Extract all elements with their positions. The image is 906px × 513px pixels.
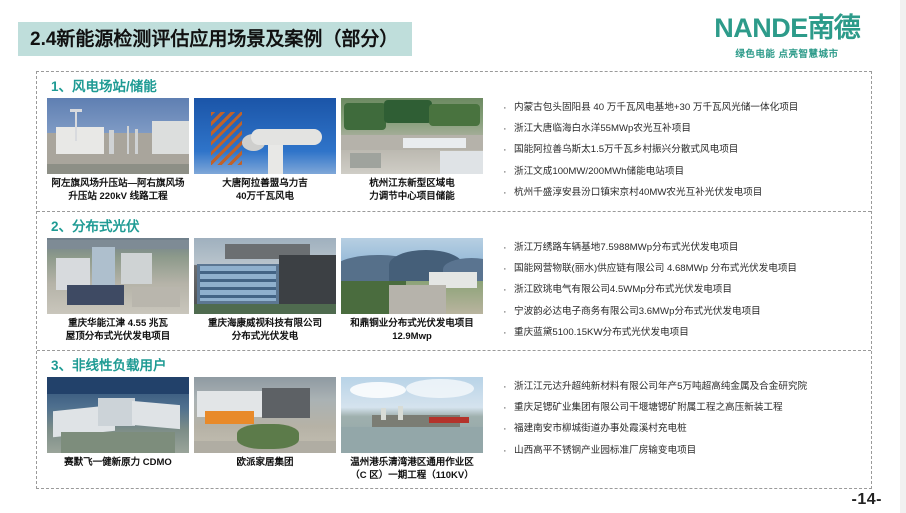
bullet-text: 国能网营物联(丽水)供应链有限公司 4.68MWp 分布式光伏发电项目 — [514, 263, 797, 275]
bullet-text: 山西高平不锈钢产业园标准厂房输变电项目 — [514, 445, 696, 457]
bullet-text: 浙江欧珧电气有限公司4.5WMp分布式光伏发电项目 — [514, 284, 732, 296]
bullet-item: ·杭州千盛淳安县汾口镇宋京村40MW农光互补光伏发电项目 — [503, 187, 865, 200]
factory-yard-photo — [194, 377, 336, 453]
slide: 2.4新能源检测评估应用场景及案例（部分） NANDE南德 绿色电能 点亮智慧城… — [0, 0, 906, 513]
section-nonlinear-load: 3、非线性负载用户 赛默飞一健新原力 CDMO 欧派家居集团 — [37, 350, 871, 489]
bullet-dot-icon: · — [503, 306, 514, 319]
brand-logo-block: NANDE南德 绿色电能 点亮智慧城市 — [692, 14, 882, 60]
bullet-text: 国能阿拉善乌斯太1.5万千瓦乡村振兴分散式风电项目 — [514, 144, 738, 156]
brand-logo-latin: NANDE — [714, 13, 808, 43]
bullet-dot-icon: · — [503, 445, 514, 458]
project-card[interactable]: 重庆海康威视科技有限公司 分布式光伏发电 — [194, 238, 336, 344]
bullet-dot-icon: · — [503, 327, 514, 340]
substation-photo — [47, 98, 189, 174]
bullet-item: ·浙江文成100MW/200MWh储能电站项目 — [503, 166, 865, 179]
bullet-item: ·重庆足锶矿业集团有限公司干堰塘锶矿附属工程之高压新装工程 — [503, 402, 865, 415]
project-card[interactable]: 阿左旗风场升压站—阿右旗风场 升压站 220kV 线路工程 — [47, 98, 189, 204]
wind-turbine-photo — [194, 98, 336, 174]
card-gallery: 阿左旗风场升压站—阿右旗风场 升压站 220kV 线路工程 大唐阿拉善盟乌力吉 … — [37, 98, 489, 204]
bullet-dot-icon: · — [503, 381, 514, 394]
card-caption: 赛默飞一健新原力 CDMO — [47, 457, 189, 470]
bullet-dot-icon: · — [503, 166, 514, 179]
mountain-road-campus-photo — [341, 238, 483, 314]
card-caption: 大唐阿拉善盟乌力吉 40万千瓦风电 — [194, 178, 336, 204]
bullet-item: ·浙江江元达升超纯新材料有限公司年产5万吨超高纯金属及合金研究院 — [503, 381, 865, 394]
bullet-item: ·福建南安市柳城街道办事处霞溪村充电桩 — [503, 423, 865, 436]
bullet-item: ·浙江欧珧电气有限公司4.5WMp分布式光伏发电项目 — [503, 284, 865, 297]
bullet-item: ·浙江大唐临海白水洋55MWp农光互补项目 — [503, 123, 865, 136]
section-body: 阿左旗风场升压站—阿右旗风场 升压站 220kV 线路工程 大唐阿拉善盟乌力吉 … — [37, 98, 871, 208]
bullet-dot-icon: · — [503, 187, 514, 200]
content-panel: 1、风电场站/储能 阿左旗风场升压站—阿右旗风场 升压站 220kV 线路工程 … — [36, 71, 872, 489]
project-card[interactable]: 大唐阿拉善盟乌力吉 40万千瓦风电 — [194, 98, 336, 204]
page-number: -14- — [852, 491, 882, 509]
bullet-dot-icon: · — [503, 123, 514, 136]
bullet-list: ·浙江江元达升超纯新材料有限公司年产5万吨超高纯金属及合金研究院 ·重庆足锶矿业… — [489, 377, 871, 466]
bullet-item: ·国能网营物联(丽水)供应链有限公司 4.68MWp 分布式光伏发电项目 — [503, 263, 865, 276]
section-body: 赛默飞一健新原力 CDMO 欧派家居集团 温州港乐清湾港区通用作业区 （C 区）… — [37, 377, 871, 483]
bullet-list: ·浙江万绣路车辆基地7.5988MWp分布式光伏发电项目 ·国能网营物联(丽水)… — [489, 238, 871, 348]
bullet-dot-icon: · — [503, 102, 514, 115]
card-caption: 杭州江东新型区域电 力调节中心项目储能 — [341, 178, 483, 204]
bullet-text: 福建南安市柳城街道办事处霞溪村充电桩 — [514, 423, 687, 435]
bullet-dot-icon: · — [503, 423, 514, 436]
card-caption: 和鼎铜业分布式光伏发电项目 12.9Mwp — [341, 318, 483, 344]
slide-header: 2.4新能源检测评估应用场景及案例（部分） NANDE南德 绿色电能 点亮智慧城… — [0, 0, 906, 62]
card-caption: 重庆华能江津 4.55 兆瓦 屋顶分布式光伏发电项目 — [47, 318, 189, 344]
bullet-text: 杭州千盛淳安县汾口镇宋京村40MW农光互补光伏发电项目 — [514, 187, 762, 199]
bullet-item: ·重庆蓝黛5100.15KW分布式光伏发电项目 — [503, 327, 865, 340]
section-heading: 1、风电场站/储能 — [51, 79, 871, 95]
brand-logo: NANDE南德 — [692, 14, 882, 42]
office-building-photo — [194, 238, 336, 314]
bullet-dot-icon: · — [503, 144, 514, 157]
page-title: 2.4新能源检测评估应用场景及案例（部分） — [30, 30, 398, 49]
pharma-campus-render-photo — [47, 377, 189, 453]
section-body: 重庆华能江津 4.55 兆瓦 屋顶分布式光伏发电项目 重庆海康威视科技有限公司 … — [37, 238, 871, 348]
aerial-industrial-park-photo — [47, 238, 189, 314]
bullet-text: 浙江大唐临海白水洋55MWp农光互补项目 — [514, 123, 691, 135]
bullet-item: ·国能阿拉善乌斯太1.5万千瓦乡村振兴分散式风电项目 — [503, 144, 865, 157]
card-caption: 欧派家居集团 — [194, 457, 336, 470]
bullet-text: 重庆足锶矿业集团有限公司干堰塘锶矿附属工程之高压新装工程 — [514, 402, 783, 414]
page-title-band: 2.4新能源检测评估应用场景及案例（部分） — [18, 22, 412, 56]
section-wind-storage: 1、风电场站/储能 阿左旗风场升压站—阿右旗风场 升压站 220kV 线路工程 … — [37, 72, 871, 211]
project-card[interactable]: 欧派家居集团 — [194, 377, 336, 483]
project-card[interactable]: 杭州江东新型区域电 力调节中心项目储能 — [341, 98, 483, 204]
bullet-item: ·浙江万绣路车辆基地7.5988MWp分布式光伏发电项目 — [503, 242, 865, 255]
project-card[interactable]: 重庆华能江津 4.55 兆瓦 屋顶分布式光伏发电项目 — [47, 238, 189, 344]
bullet-list: ·内蒙古包头固阳县 40 万千瓦风电基地+30 万千瓦风光储一体化项目 ·浙江大… — [489, 98, 871, 208]
aerial-energy-station-photo — [341, 98, 483, 174]
section-heading: 2、分布式光伏 — [51, 219, 871, 235]
bullet-dot-icon: · — [503, 242, 514, 255]
project-card[interactable]: 和鼎铜业分布式光伏发电项目 12.9Mwp — [341, 238, 483, 344]
bullet-item: ·山西高平不锈钢产业园标准厂房输变电项目 — [503, 445, 865, 458]
project-card[interactable]: 温州港乐清湾港区通用作业区 （C 区）一期工程（110KV） — [341, 377, 483, 483]
card-gallery: 赛默飞一健新原力 CDMO 欧派家居集团 温州港乐清湾港区通用作业区 （C 区）… — [37, 377, 489, 483]
brand-tagline: 绿色电能 点亮智慧城市 — [692, 46, 882, 60]
project-card[interactable]: 赛默飞一健新原力 CDMO — [47, 377, 189, 483]
bullet-item: ·内蒙古包头固阳县 40 万千瓦风电基地+30 万千瓦风光储一体化项目 — [503, 102, 865, 115]
section-heading: 3、非线性负载用户 — [51, 358, 871, 374]
brand-logo-cjk: 南德 — [808, 13, 860, 43]
bullet-text: 内蒙古包头固阳县 40 万千瓦风电基地+30 万千瓦风光储一体化项目 — [514, 102, 798, 114]
card-caption: 温州港乐清湾港区通用作业区 （C 区）一期工程（110KV） — [341, 457, 483, 483]
card-caption: 重庆海康威视科技有限公司 分布式光伏发电 — [194, 318, 336, 344]
bullet-dot-icon: · — [503, 284, 514, 297]
bullet-text: 浙江万绣路车辆基地7.5988MWp分布式光伏发电项目 — [514, 242, 738, 254]
bullet-text: 浙江江元达升超纯新材料有限公司年产5万吨超高纯金属及合金研究院 — [514, 381, 807, 393]
bullet-text: 重庆蓝黛5100.15KW分布式光伏发电项目 — [514, 327, 689, 339]
bullet-dot-icon: · — [503, 402, 514, 415]
card-caption: 阿左旗风场升压站—阿右旗风场 升压站 220kV 线路工程 — [47, 178, 189, 204]
bullet-dot-icon: · — [503, 263, 514, 276]
bullet-text: 浙江文成100MW/200MWh储能电站项目 — [514, 166, 684, 178]
port-terminal-photo — [341, 377, 483, 453]
bullet-text: 宁波韵必达电子商务有限公司3.6MWp分布式光伏发电项目 — [514, 306, 761, 318]
section-distributed-pv: 2、分布式光伏 重庆华能江津 4.55 兆瓦 屋顶分布式光伏发电项目 重庆海康威… — [37, 211, 871, 350]
card-gallery: 重庆华能江津 4.55 兆瓦 屋顶分布式光伏发电项目 重庆海康威视科技有限公司 … — [37, 238, 489, 344]
bullet-item: ·宁波韵必达电子商务有限公司3.6MWp分布式光伏发电项目 — [503, 306, 865, 319]
